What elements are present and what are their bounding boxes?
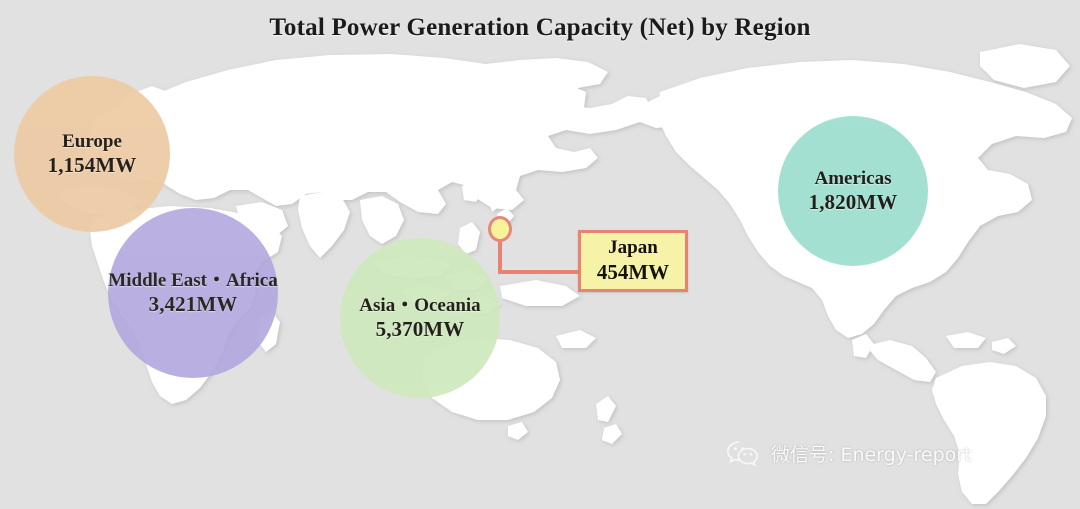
callout-name-japan: Japan bbox=[608, 237, 658, 259]
region-value-asia-oceania: 5,370MW bbox=[376, 317, 465, 341]
region-value-americas: 1,820MW bbox=[809, 190, 898, 214]
infographic-canvas: Total Power Generation Capacity (Net) by… bbox=[0, 0, 1080, 509]
region-bubble-europe[interactable]: Europe 1,154MW bbox=[14, 76, 170, 232]
region-bubble-americas[interactable]: Americas 1,820MW bbox=[778, 116, 928, 266]
wechat-icon bbox=[726, 440, 760, 467]
region-bubble-middle-east-africa[interactable]: Middle East・Africa 3,421MW bbox=[108, 208, 278, 378]
region-name-asia-oceania: Asia・Oceania bbox=[359, 295, 480, 317]
location-marker-icon bbox=[488, 216, 512, 242]
callout-value-japan: 454MW bbox=[597, 260, 669, 285]
region-name-americas: Americas bbox=[814, 168, 891, 190]
japan-callout-box[interactable]: Japan 454MW bbox=[578, 230, 688, 292]
region-value-middle-east-africa: 3,421MW bbox=[149, 292, 238, 316]
region-bubble-asia-oceania[interactable]: Asia・Oceania 5,370MW bbox=[340, 238, 500, 398]
region-value-europe: 1,154MW bbox=[48, 153, 137, 177]
watermark-text: 微信号: Energy-report bbox=[771, 440, 972, 467]
region-name-europe: Europe bbox=[62, 131, 122, 153]
chart-title: Total Power Generation Capacity (Net) by… bbox=[0, 14, 1080, 42]
region-name-middle-east-africa: Middle East・Africa bbox=[108, 270, 277, 292]
watermark: 微信号: Energy-report bbox=[726, 440, 972, 467]
